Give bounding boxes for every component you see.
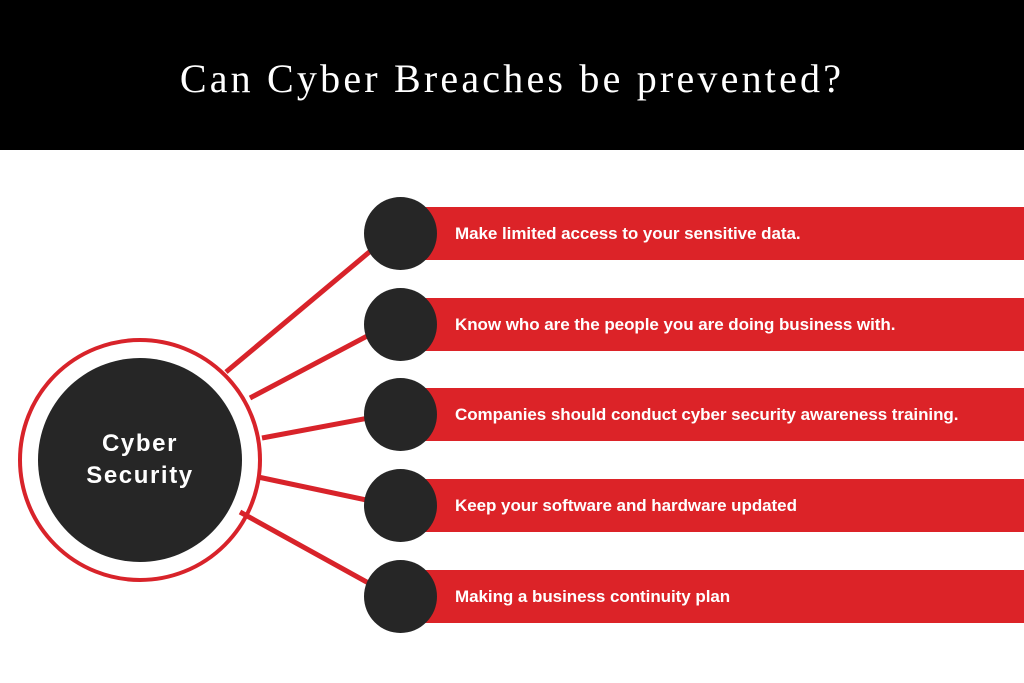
item-bullet-1[interactable]: [364, 197, 437, 270]
item-label-5: Making a business continuity plan: [455, 587, 730, 607]
item-bar-5[interactable]: Making a business continuity plan: [400, 570, 1024, 623]
item-bar-3[interactable]: Companies should conduct cyber security …: [400, 388, 1024, 441]
item-bullet-3[interactable]: [364, 378, 437, 451]
item-label-2: Know who are the people you are doing bu…: [455, 315, 895, 335]
item-bullet-2[interactable]: [364, 288, 437, 361]
hub-label-line1: Cyber: [102, 428, 178, 460]
hub-label-line2: Security: [86, 460, 194, 492]
hub-circle[interactable]: Cyber Security: [38, 358, 242, 562]
item-label-1: Make limited access to your sensitive da…: [455, 224, 801, 244]
header-band: Can Cyber Breaches be prevented?: [0, 0, 1024, 150]
item-bullet-5[interactable]: [364, 560, 437, 633]
item-bullet-4[interactable]: [364, 469, 437, 542]
infographic-poster: Can Cyber Breaches be prevented? Cyber S…: [0, 0, 1024, 683]
page-title: Can Cyber Breaches be prevented?: [0, 0, 1024, 150]
item-label-3: Companies should conduct cyber security …: [455, 405, 958, 425]
item-bar-2[interactable]: Know who are the people you are doing bu…: [400, 298, 1024, 351]
item-label-4: Keep your software and hardware updated: [455, 496, 797, 516]
connector-line-1: [226, 233, 392, 372]
item-bar-1[interactable]: Make limited access to your sensitive da…: [400, 207, 1024, 260]
item-bar-4[interactable]: Keep your software and hardware updated: [400, 479, 1024, 532]
